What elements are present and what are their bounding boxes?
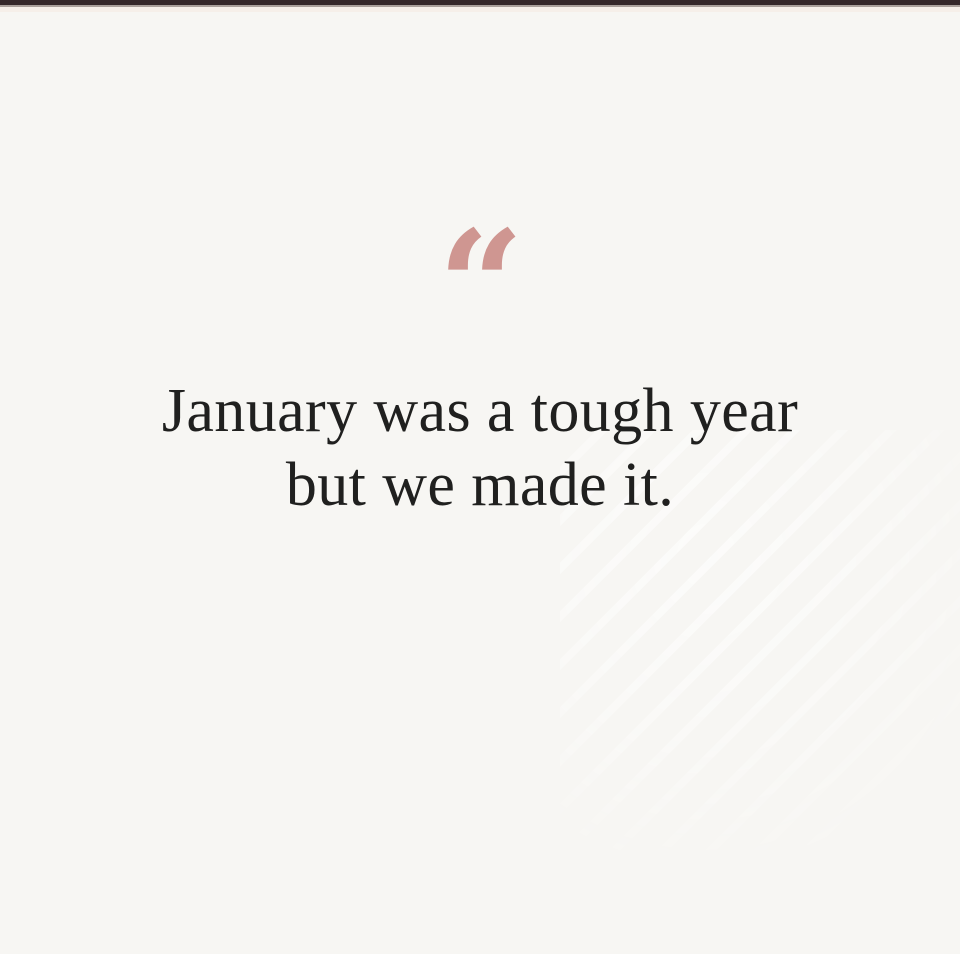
top-cream-band (0, 7, 960, 12)
quote-line-2: but we made it. (70, 448, 890, 522)
quote-content: “ January was a tough year but we made i… (0, 0, 960, 954)
quote-line-1: January was a tough year (70, 374, 890, 448)
open-quote-icon: “ (438, 232, 522, 340)
quote-card: “ January was a tough year but we made i… (0, 0, 960, 954)
quote-text-block: January was a tough year but we made it. (70, 374, 890, 522)
top-edge-hairline (0, 5, 960, 7)
